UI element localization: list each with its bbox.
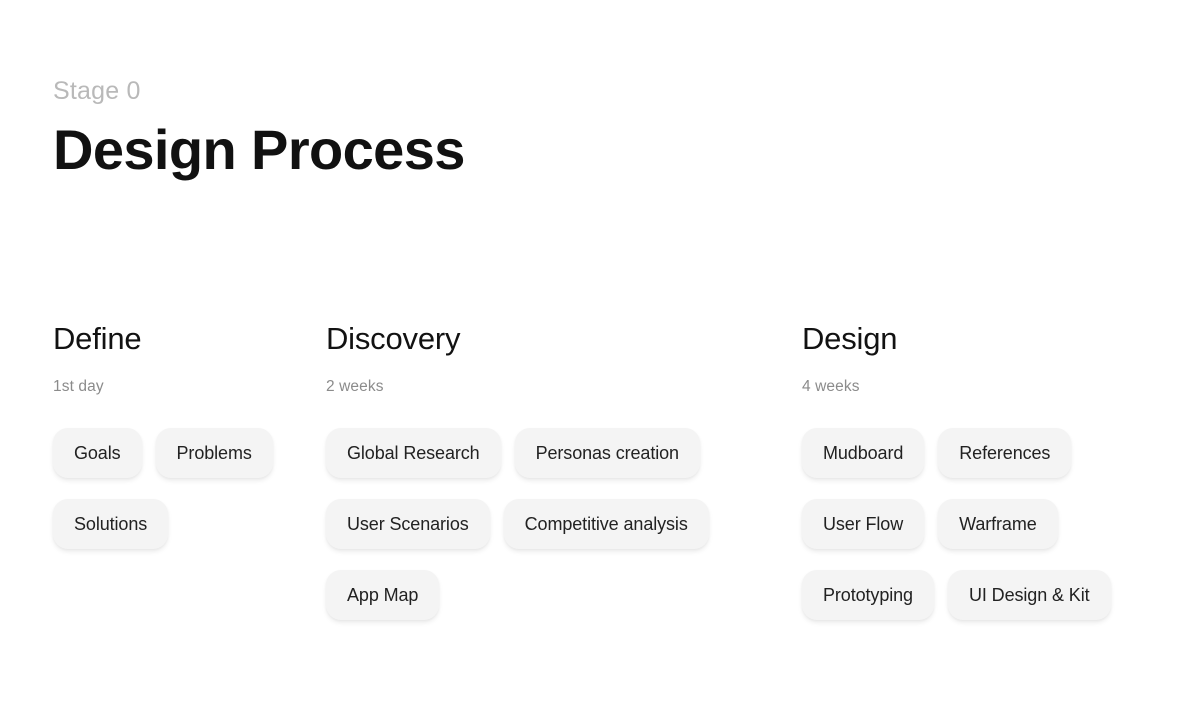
chip-item[interactable]: References — [938, 428, 1071, 478]
chip-group-define: Goals Problems Solutions — [53, 428, 315, 549]
chip-item[interactable]: UI Design & Kit — [948, 570, 1111, 620]
column-duration: 1st day — [53, 378, 315, 395]
chip-item[interactable]: Warframe — [938, 499, 1058, 549]
chip-item[interactable]: App Map — [326, 570, 439, 620]
chip-item[interactable]: Prototyping — [802, 570, 934, 620]
chip-item[interactable]: Global Research — [326, 428, 501, 478]
chip-item[interactable]: Competitive analysis — [504, 499, 709, 549]
page-title: Design Process — [53, 119, 465, 182]
process-column-design: Design 4 weeks Mudboard References User … — [802, 322, 1162, 620]
chip-item[interactable]: User Scenarios — [326, 499, 490, 549]
chip-item[interactable]: Mudboard — [802, 428, 924, 478]
column-title: Define — [53, 322, 315, 356]
chip-item[interactable]: Solutions — [53, 499, 168, 549]
chip-item[interactable]: User Flow — [802, 499, 924, 549]
chip-item[interactable]: Goals — [53, 428, 142, 478]
stage-eyebrow: Stage 0 — [53, 78, 465, 106]
column-duration: 4 weeks — [802, 378, 1162, 395]
chip-item[interactable]: Problems — [156, 428, 273, 478]
process-column-define: Define 1st day Goals Problems Solutions — [53, 322, 315, 549]
column-duration: 2 weeks — [326, 378, 788, 395]
design-process-slide: Stage 0 Design Process Define 1st day Go… — [0, 0, 1200, 704]
process-column-discovery: Discovery 2 weeks Global Research Person… — [326, 322, 788, 620]
slide-header: Stage 0 Design Process — [53, 78, 465, 181]
column-title: Design — [802, 322, 1162, 356]
chip-item[interactable]: Personas creation — [515, 428, 700, 478]
chip-group-discovery: Global Research Personas creation User S… — [326, 428, 788, 620]
column-title: Discovery — [326, 322, 788, 356]
chip-group-design: Mudboard References User Flow Warframe P… — [802, 428, 1162, 620]
